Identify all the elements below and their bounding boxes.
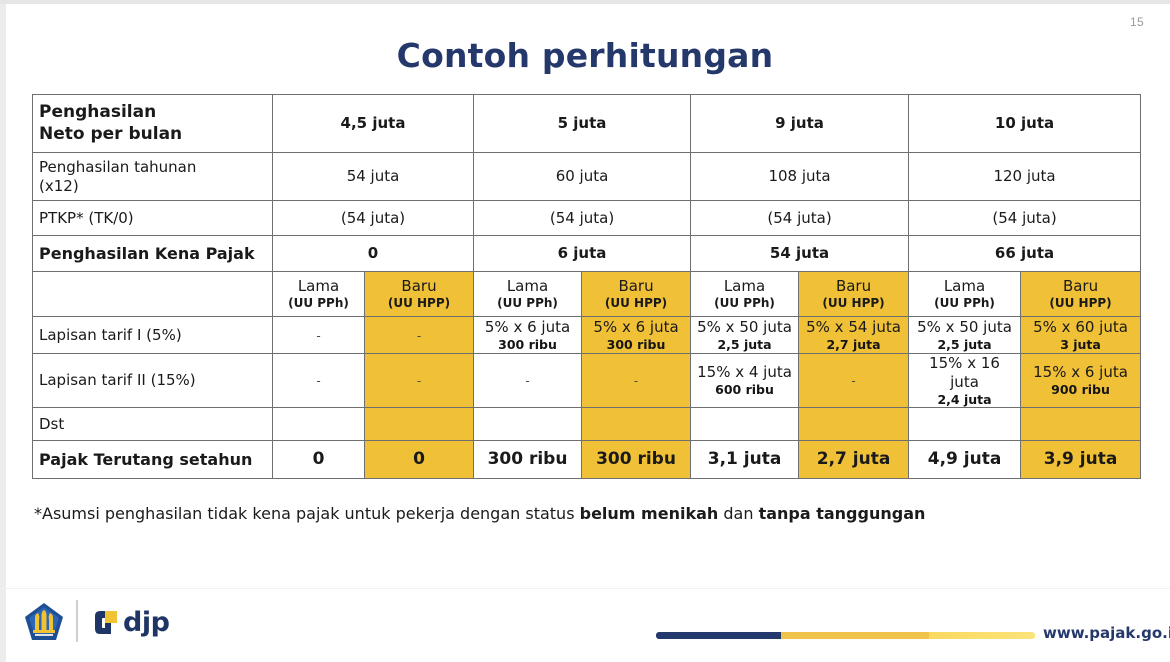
cell-dst-c2 — [365, 408, 474, 441]
cell-total-c8: 3,9 juta — [1021, 441, 1141, 479]
footer-url: www.pajak.go.id — [1043, 624, 1170, 642]
subheader-baru-3: Baru (UU HPP) — [799, 272, 909, 317]
cell-dash: - — [417, 374, 421, 388]
cell-pkp-3: 54 juta — [691, 236, 909, 272]
subheader-lama-4: Lama (UU PPh) — [909, 272, 1021, 317]
subheader-baru-4: Baru (UU HPP) — [1021, 272, 1141, 317]
slide-canvas: 15 Contoh perhitungan Penghasilan Neto p… — [0, 0, 1170, 662]
cell-formula: 5% x 54 juta — [806, 318, 901, 336]
table-row-neto-per-bulan: Penghasilan Neto per bulan 4,5 juta 5 ju… — [33, 95, 1141, 153]
cell-result: 300 ribu — [480, 337, 575, 353]
kemenkeu-logo-icon — [22, 600, 66, 644]
cell-tahunan-3: 108 juta — [691, 153, 909, 201]
cell-total-c1: 0 — [273, 441, 365, 479]
cell-neto-2: 5 juta — [474, 95, 691, 153]
djp-logo: djp — [92, 606, 169, 638]
footnote-bold-tanggungan: tanpa tanggungan — [759, 504, 926, 523]
cell-total-c5: 3,1 juta — [691, 441, 799, 479]
cell-ptkp-3: (54 juta) — [691, 201, 909, 236]
tax-calculation-table: Penghasilan Neto per bulan 4,5 juta 5 ju… — [32, 94, 1141, 479]
cell-neto-3: 9 juta — [691, 95, 909, 153]
subheader-lama-top: Lama — [724, 277, 765, 295]
row-label-lapisan-tarif-1: Lapisan tarif I (5%) — [33, 317, 273, 354]
cell-dst-c1 — [273, 408, 365, 441]
slide-top-edge — [0, 0, 1170, 4]
cell-ptkp-4: (54 juta) — [909, 201, 1141, 236]
subheader-baru-top: Baru — [401, 277, 436, 295]
subheader-baru-bottom: (UU HPP) — [1027, 296, 1134, 311]
cell-formula: 5% x 6 juta — [485, 318, 570, 336]
table-row-penghasilan-tahunan: Penghasilan tahunan (x12) 54 juta 60 jut… — [33, 153, 1141, 201]
subheader-lama-top: Lama — [298, 277, 339, 295]
cell-result: 2,4 juta — [915, 392, 1014, 408]
cell-dash: - — [316, 374, 320, 388]
cell-tarif1-c1: - — [273, 317, 365, 354]
slide-left-edge — [0, 0, 6, 662]
cell-result: 2,7 juta — [805, 337, 902, 353]
row-label-line2: (x12) — [39, 177, 79, 195]
row-label-line2: Neto per bulan — [39, 124, 182, 144]
cell-result: 2,5 juta — [915, 337, 1014, 353]
cell-tarif1-c5: 5% x 50 juta 2,5 juta — [691, 317, 799, 354]
cell-dash: - — [525, 374, 529, 388]
cell-tarif2-c5: 15% x 4 juta 600 ribu — [691, 354, 799, 408]
subheader-baru-bottom: (UU HPP) — [805, 296, 902, 311]
cell-ptkp-2: (54 juta) — [474, 201, 691, 236]
subheader-baru-1: Baru (UU HPP) — [365, 272, 474, 317]
footnote-mid: dan — [718, 504, 758, 523]
cell-tarif2-c2: - — [365, 354, 474, 408]
subheader-lama-bottom: (UU PPh) — [697, 296, 792, 311]
cell-tarif1-c6: 5% x 54 juta 2,7 juta — [799, 317, 909, 354]
footer-gradient-bar — [656, 632, 1035, 639]
cell-formula: 15% x 6 juta — [1033, 363, 1128, 381]
cell-dst-c8 — [1021, 408, 1141, 441]
cell-tarif1-c4: 5% x 6 juta 300 ribu — [582, 317, 691, 354]
cell-pkp-1: 0 — [273, 236, 474, 272]
subheader-baru-bottom: (UU HPP) — [371, 296, 467, 311]
cell-dash: - — [851, 374, 855, 388]
cell-neto-4: 10 juta — [909, 95, 1141, 153]
cell-tarif1-c8: 5% x 60 juta 3 juta — [1021, 317, 1141, 354]
subheader-lama-bottom: (UU PPh) — [480, 296, 575, 311]
cell-dst-c4 — [582, 408, 691, 441]
cell-formula: 5% x 50 juta — [697, 318, 792, 336]
subheader-lama-2: Lama (UU PPh) — [474, 272, 582, 317]
row-label-line1: Penghasilan tahunan — [39, 158, 196, 176]
cell-total-c2: 0 — [365, 441, 474, 479]
djp-wordmark: djp — [123, 609, 169, 636]
footer-logo-divider — [76, 600, 78, 642]
subheader-lama-top: Lama — [507, 277, 548, 295]
cell-result: 600 ribu — [697, 382, 792, 398]
table-row-dst: Dst — [33, 408, 1141, 441]
cell-neto-1: 4,5 juta — [273, 95, 474, 153]
cell-total-c7: 4,9 juta — [909, 441, 1021, 479]
subheader-lama-top: Lama — [944, 277, 985, 295]
row-label-pajak-terutang: Pajak Terutang setahun — [33, 441, 273, 479]
table-row-lapisan-tarif-2: Lapisan tarif II (15%) - - - - 15% x 4 j… — [33, 354, 1141, 408]
row-label-neto-per-bulan: Penghasilan Neto per bulan — [33, 95, 273, 153]
subheader-baru-top: Baru — [1063, 277, 1098, 295]
row-label-line1: Penghasilan — [39, 102, 156, 122]
cell-tarif1-c3: 5% x 6 juta 300 ribu — [474, 317, 582, 354]
page-number: 15 — [1130, 15, 1144, 29]
cell-ptkp-1: (54 juta) — [273, 201, 474, 236]
cell-dst-c6 — [799, 408, 909, 441]
footnote: *Asumsi penghasilan tidak kena pajak unt… — [34, 504, 1114, 523]
cell-total-c3: 300 ribu — [474, 441, 582, 479]
cell-result: 3 juta — [1027, 337, 1134, 353]
cell-tahunan-2: 60 juta — [474, 153, 691, 201]
djp-mark-icon — [92, 608, 120, 636]
subheader-lama-1: Lama (UU PPh) — [273, 272, 365, 317]
row-label-lapisan-tarif-2: Lapisan tarif II (15%) — [33, 354, 273, 408]
cell-tarif2-c1: - — [273, 354, 365, 408]
cell-tahunan-1: 54 juta — [273, 153, 474, 201]
cell-tarif2-c7: 15% x 16 juta 2,4 juta — [909, 354, 1021, 408]
cell-tarif1-c7: 5% x 50 juta 2,5 juta — [909, 317, 1021, 354]
subheader-baru-top: Baru — [836, 277, 871, 295]
cell-dst-c3 — [474, 408, 582, 441]
cell-tarif2-c3: - — [474, 354, 582, 408]
cell-tahunan-4: 120 juta — [909, 153, 1141, 201]
cell-pkp-4: 66 juta — [909, 236, 1141, 272]
table-row-penghasilan-kena-pajak: Penghasilan Kena Pajak 0 6 juta 54 juta … — [33, 236, 1141, 272]
cell-pkp-2: 6 juta — [474, 236, 691, 272]
cell-tarif1-c2: - — [365, 317, 474, 354]
cell-dash: - — [316, 329, 320, 343]
cell-dst-c5 — [691, 408, 799, 441]
subheader-baru-2: Baru (UU HPP) — [582, 272, 691, 317]
subheader-lama-bottom: (UU PPh) — [915, 296, 1014, 311]
subheader-baru-bottom: (UU HPP) — [588, 296, 684, 311]
cell-formula: 5% x 6 juta — [593, 318, 678, 336]
cell-result: 300 ribu — [588, 337, 684, 353]
cell-formula: 15% x 16 juta — [929, 354, 1000, 391]
footer-divider-rule — [0, 588, 1170, 589]
cell-dst-c7 — [909, 408, 1021, 441]
table-row-subheader-lama-baru: Lama (UU PPh) Baru (UU HPP) Lama (UU PPh… — [33, 272, 1141, 317]
row-label-penghasilan-tahunan: Penghasilan tahunan (x12) — [33, 153, 273, 201]
page-title: Contoh perhitungan — [0, 36, 1170, 75]
subheader-lama-bottom: (UU PPh) — [279, 296, 358, 311]
cell-tarif2-c8: 15% x 6 juta 900 ribu — [1021, 354, 1141, 408]
footnote-prefix: *Asumsi penghasilan tidak kena pajak unt… — [34, 504, 580, 523]
table-row-lapisan-tarif-1: Lapisan tarif I (5%) - - 5% x 6 juta 300… — [33, 317, 1141, 354]
cell-dash: - — [417, 329, 421, 343]
cell-formula: 15% x 4 juta — [697, 363, 792, 381]
subheader-baru-top: Baru — [618, 277, 653, 295]
cell-result: 2,5 juta — [697, 337, 792, 353]
cell-result: 900 ribu — [1027, 382, 1134, 398]
cell-formula: 5% x 60 juta — [1033, 318, 1128, 336]
cell-formula: 5% x 50 juta — [917, 318, 1012, 336]
table-row-ptkp: PTKP* (TK/0) (54 juta) (54 juta) (54 jut… — [33, 201, 1141, 236]
cell-dash: - — [634, 374, 638, 388]
cell-total-c6: 2,7 juta — [799, 441, 909, 479]
row-label-pkp: Penghasilan Kena Pajak — [33, 236, 273, 272]
footnote-bold-status: belum menikah — [580, 504, 719, 523]
subheader-lama-3: Lama (UU PPh) — [691, 272, 799, 317]
table-row-pajak-terutang: Pajak Terutang setahun 0 0 300 ribu 300 … — [33, 441, 1141, 479]
cell-total-c4: 300 ribu — [582, 441, 691, 479]
row-label-ptkp: PTKP* (TK/0) — [33, 201, 273, 236]
subheader-empty-label — [33, 272, 273, 317]
cell-tarif2-c6: - — [799, 354, 909, 408]
cell-tarif2-c4: - — [582, 354, 691, 408]
row-label-dst: Dst — [33, 408, 273, 441]
